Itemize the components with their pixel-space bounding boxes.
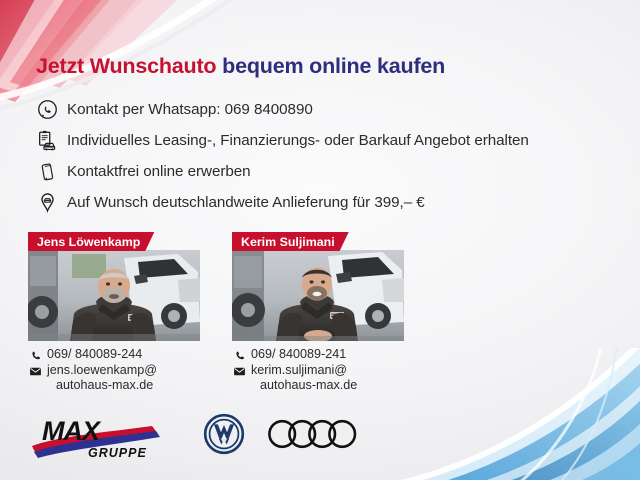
audi-logo-label: Audi [363,417,364,418]
contact-email-row: kerim.suljimani@autohaus-max.de [232,363,404,392]
contact-phone-row: 069/ 840089-244 [28,347,200,363]
phone-icon [232,348,247,363]
contact-cards: Jens Löwenkamp [28,232,404,392]
title-rest: bequem online kaufen [222,54,445,78]
brand-logos: MAX GRUPPE MAX GRUPPE Volkswagen [30,410,363,462]
title-emphasis: Jetzt Wunschauto [36,54,222,78]
contact-phone-row: 069/ 840089-241 [232,347,404,363]
contact-email: jens.loewenkamp@autohaus-max.de [47,363,157,392]
list-item-label: Kontaktfrei online erwerben [67,163,251,180]
phone-icon [28,348,43,363]
car-location-pin-icon [33,190,61,216]
svg-text:MAX: MAX [42,416,102,446]
document-car-icon [33,128,61,154]
contact-photo [28,250,200,341]
contact-email-row: jens.loewenkamp@autohaus-max.de [28,363,200,392]
list-item-label: Auf Wunsch deutschlandweite Anlieferung … [67,194,425,211]
promo-slide: Jetzt Wunschauto bequem online kaufen Ko… [0,0,640,480]
svg-text:GRUPPE: GRUPPE [88,446,147,460]
envelope-icon [232,364,247,379]
vw-logo-label: Volkswagen [245,413,246,414]
feature-list: Kontakt per Whatsapp: 069 8400890 Indivi… [33,94,613,218]
max-logo-main-label: MAX [165,410,166,411]
smartphone-icon [33,159,61,185]
list-item: Auf Wunsch deutschlandweite Anlieferung … [33,187,613,218]
max-logo-sub-label: GRUPPE [165,410,166,411]
contact-phone: 069/ 840089-244 [47,347,142,362]
contact-photo [232,250,404,341]
contact-phone: 069/ 840089-241 [251,347,346,362]
list-item: Kontaktfrei online erwerben [33,156,613,187]
contact-card: Jens Löwenkamp [28,232,200,392]
audi-logo: Audi [267,417,363,456]
list-item: Individuelles Leasing-, Finanzierungs- o… [33,125,613,156]
page-title: Jetzt Wunschauto bequem online kaufen [36,54,445,79]
name-banner-wrap: Kerim Suljimani [232,232,404,251]
volkswagen-logo: Volkswagen [203,413,245,460]
contact-details: 069/ 840089-244 jens.loewenkamp@autohaus… [28,347,200,392]
contact-name-banner: Jens Löwenkamp [28,232,154,251]
list-item-label: Individuelles Leasing-, Finanzierungs- o… [67,132,529,149]
max-gruppe-logo: MAX GRUPPE MAX GRUPPE [30,410,165,462]
name-banner-wrap: Jens Löwenkamp [28,232,200,251]
contact-name-banner: Kerim Suljimani [232,232,349,251]
contact-email: kerim.suljimani@autohaus-max.de [251,363,357,392]
list-item-label: Kontakt per Whatsapp: 069 8400890 [67,101,313,118]
contact-details: 069/ 840089-241 kerim.suljimani@autohaus… [232,347,404,392]
whatsapp-icon [33,97,61,123]
contact-card: Kerim Suljimani [232,232,404,392]
list-item: Kontakt per Whatsapp: 069 8400890 [33,94,613,125]
envelope-icon [28,364,43,379]
